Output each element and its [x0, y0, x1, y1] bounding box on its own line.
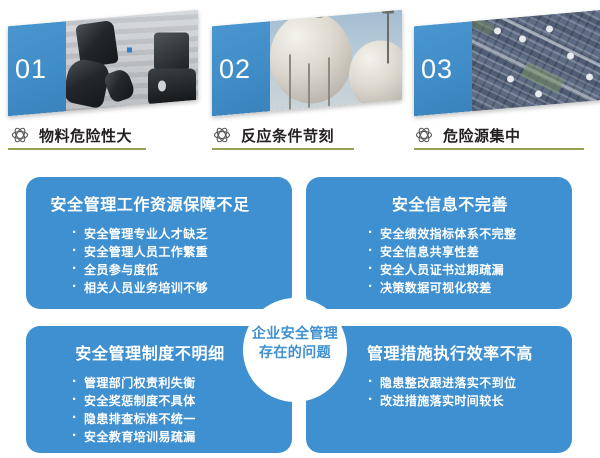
list-item: 隐患整改跟进落实不到位 — [368, 374, 562, 392]
caption-underline-01 — [8, 148, 146, 150]
quadrant-list-top-right: 安全绩效指标体系不完整 安全信息共享性差 安全人员证书过期疏漏 决策数据可视化较… — [316, 225, 562, 297]
list-item: 改进措施落实时间较长 — [368, 392, 562, 410]
list-item: 决策数据可视化较差 — [368, 279, 562, 297]
card-photo-03 — [472, 10, 600, 112]
card-caption-text-01: 物料危险性大 — [39, 125, 132, 146]
list-item: 隐患排查标准不统一 — [72, 410, 282, 428]
card-number-panel-01: 01 — [8, 21, 66, 116]
quadrant-title-top-left: 安全管理工作资源保障不足 — [36, 191, 282, 215]
card-number-01: 01 — [15, 56, 47, 83]
list-item: 安全管理人员工作繁重 — [72, 243, 282, 261]
card-caption-text-03: 危险源集中 — [443, 125, 521, 146]
centre-hub-label: 企业安全管理 存在的问题 — [228, 324, 362, 362]
card-number-02: 02 — [219, 56, 251, 83]
quadrant-list-top-left: 安全管理专业人才缺乏 安全管理人员工作繁重 全员参与度低 相关人员业务培训不够 — [36, 225, 282, 297]
card-caption-01: 物料危险性大 — [10, 118, 190, 152]
centre-hub-line-1: 企业安全管理 — [228, 324, 362, 343]
quadrant-box-top-right[interactable]: 安全信息不完善 安全绩效指标体系不完整 安全信息共享性差 安全人员证书过期疏漏 … — [306, 177, 572, 309]
quadrant-title-top-right: 安全信息不完善 — [316, 191, 562, 215]
quadrant-list-bottom-right: 隐患整改跟进落实不到位 改进措施落实时间较长 — [316, 374, 562, 410]
card-photo-02 — [270, 10, 402, 112]
quadrant-diagram: 安全管理工作资源保障不足 安全管理专业人才缺乏 安全管理人员工作繁重 全员参与度… — [0, 160, 600, 458]
card-photo-01 — [66, 10, 198, 112]
photo-card-03[interactable]: 03 — [414, 10, 600, 117]
top-cards-section: 01 02 — [0, 0, 600, 160]
list-item: 安全奖惩制度不具体 — [72, 392, 282, 410]
atom-icon — [414, 125, 434, 145]
list-item: 安全人员证书过期疏漏 — [368, 261, 562, 279]
quadrant-box-top-left[interactable]: 安全管理工作资源保障不足 安全管理专业人才缺乏 安全管理人员工作繁重 全员参与度… — [26, 177, 292, 309]
list-item: 全员参与度低 — [72, 261, 282, 279]
photo-card-01[interactable]: 01 — [8, 10, 198, 117]
photo-card-02[interactable]: 02 — [212, 10, 402, 117]
list-item: 安全信息共享性差 — [368, 243, 562, 261]
atom-icon — [10, 125, 30, 145]
caption-underline-03 — [414, 148, 584, 150]
card-number-03: 03 — [421, 56, 453, 83]
quadrant-list-bottom-left: 管理部门权责利失衡 安全奖惩制度不具体 隐患排查标准不统一 安全教育培训易疏漏 — [36, 374, 282, 446]
card-caption-02: 反应条件苛刻 — [212, 118, 392, 152]
list-item: 安全教育培训易疏漏 — [72, 428, 282, 446]
list-item: 安全绩效指标体系不完整 — [368, 225, 562, 243]
card-caption-text-02: 反应条件苛刻 — [241, 125, 334, 146]
card-number-panel-02: 02 — [212, 21, 270, 116]
atom-icon — [212, 125, 232, 145]
caption-underline-02 — [212, 148, 354, 150]
infographic-page: 01 02 — [0, 0, 600, 458]
card-caption-03: 危险源集中 — [414, 118, 594, 152]
list-item: 安全管理专业人才缺乏 — [72, 225, 282, 243]
list-item: 相关人员业务培训不够 — [72, 279, 282, 297]
card-number-panel-03: 03 — [414, 21, 472, 116]
centre-hub-line-2: 存在的问题 — [228, 343, 362, 362]
